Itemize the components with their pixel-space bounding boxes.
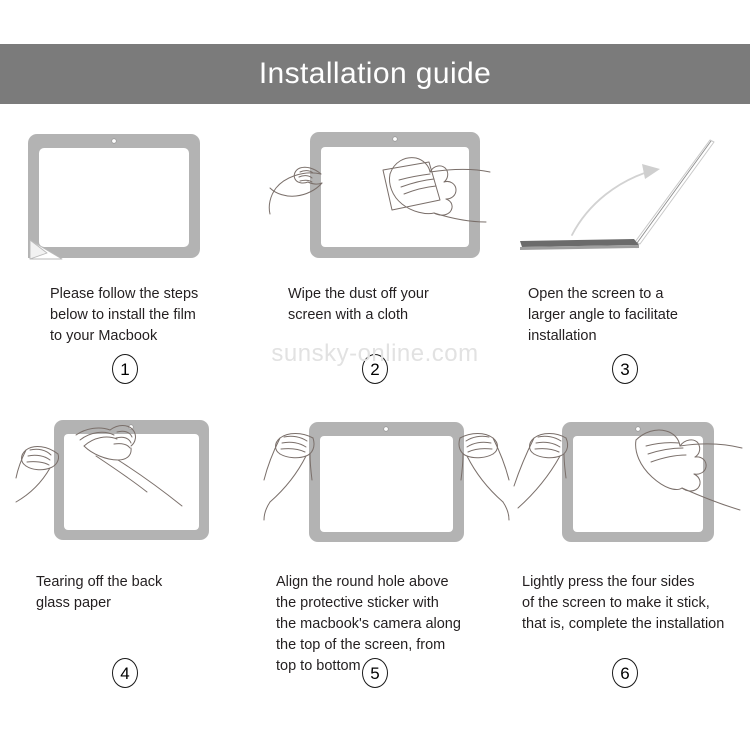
tablet-pressed-by-two-hands-icon: [514, 410, 750, 560]
step-number-4: 4: [112, 658, 138, 688]
steps-grid: Please follow the steps below to install…: [0, 122, 750, 710]
step-number-2: 2: [362, 354, 388, 384]
step-caption-6: Lightly press the four sides of the scre…: [514, 572, 736, 635]
step-number-5: 5: [362, 658, 388, 688]
step-badge-2: 2: [250, 354, 500, 384]
step-illustration-2: [264, 122, 486, 272]
step-illustration-5: [264, 410, 486, 560]
tablet-with-two-hands-and-cloth-icon: [264, 122, 514, 272]
step-number-6: 6: [612, 658, 638, 688]
step-badge-4: 4: [0, 658, 250, 688]
step-caption-1: Please follow the steps below to install…: [14, 284, 236, 347]
step-caption-2: Wipe the dust off your screen with a clo…: [264, 284, 486, 326]
tablet-with-peeling-corner-icon: [14, 122, 236, 272]
header-band: Installation guide: [0, 44, 750, 104]
step-illustration-1: [14, 122, 236, 272]
step-caption-3: Open the screen to a larger angle to fac…: [514, 284, 736, 347]
page-title: Installation guide: [259, 59, 491, 89]
step-panel-3: Open the screen to a larger angle to fac…: [500, 122, 750, 410]
step-panel-2: Wipe the dust off your screen with a clo…: [250, 122, 500, 410]
step-panel-5: Align the round hole above the protectiv…: [250, 410, 500, 710]
laptop-side-view-opening-arrow-icon: [514, 122, 749, 272]
step-caption-4: Tearing off the back glass paper: [14, 572, 236, 614]
tablet-with-hands-tearing-paper-icon: [14, 410, 264, 560]
step-badge-5: 5: [250, 658, 500, 688]
step-illustration-3: [514, 122, 736, 272]
step-illustration-6: [514, 410, 736, 560]
step-illustration-4: [14, 410, 236, 560]
step-number-1: 1: [112, 354, 138, 384]
step-badge-3: 3: [500, 354, 750, 384]
tablet-held-by-two-hands-icon: [264, 410, 514, 560]
step-badge-1: 1: [0, 354, 250, 384]
step-number-3: 3: [612, 354, 638, 384]
step-panel-4: Tearing off the back glass paper 4: [0, 410, 250, 710]
step-panel-1: Please follow the steps below to install…: [0, 122, 250, 410]
step-panel-6: Lightly press the four sides of the scre…: [500, 410, 750, 710]
step-badge-6: 6: [500, 658, 750, 688]
